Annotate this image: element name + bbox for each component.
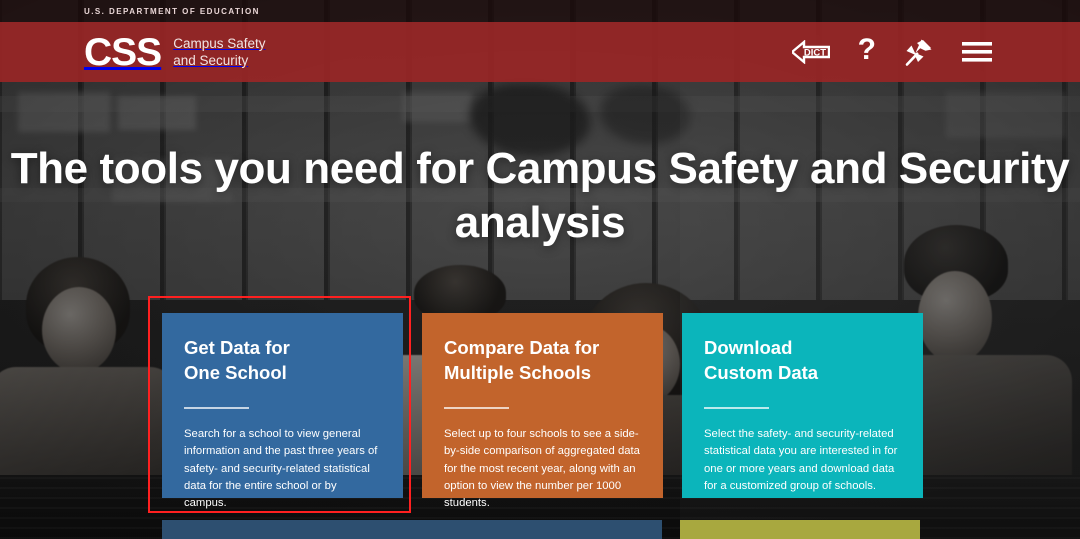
card-partial-olive[interactable] <box>680 520 920 539</box>
card-body: Select up to four schools to see a side-… <box>444 426 641 512</box>
card-title: Get Data for One School <box>184 336 381 385</box>
card-compare-data-multiple-schools[interactable]: Compare Data for Multiple Schools Select… <box>422 313 663 498</box>
card-divider <box>184 407 249 409</box>
card-get-data-one-school[interactable]: Get Data for One School Search for a sch… <box>162 313 403 498</box>
card-body: Select the safety- and security-related … <box>704 426 901 495</box>
card-body: Search for a school to view general info… <box>184 426 381 512</box>
card-title: Download Custom Data <box>704 336 901 385</box>
card-partial-navy[interactable] <box>162 520 662 539</box>
card-divider <box>444 407 509 409</box>
action-card-row: Get Data for One School Search for a sch… <box>0 0 1080 539</box>
card-download-custom-data[interactable]: Download Custom Data Select the safety- … <box>682 313 923 498</box>
card-divider <box>704 407 769 409</box>
card-title: Compare Data for Multiple Schools <box>444 336 641 385</box>
